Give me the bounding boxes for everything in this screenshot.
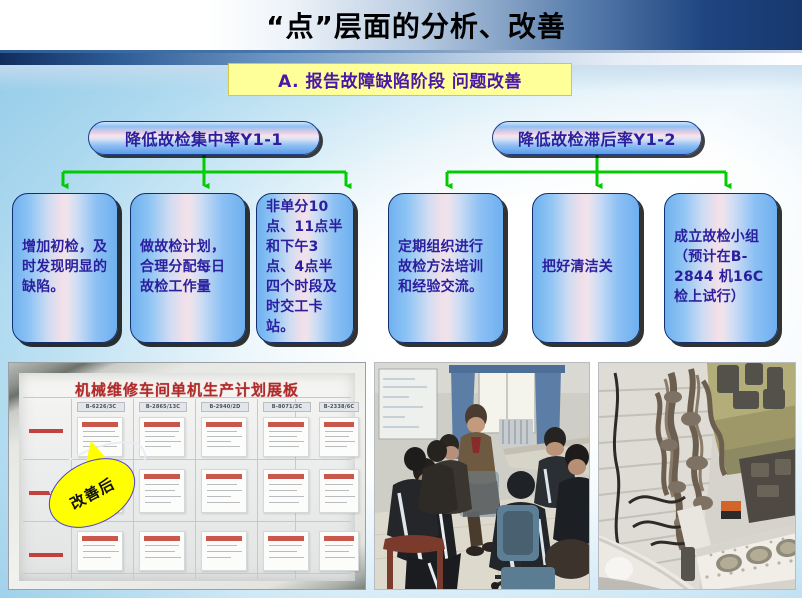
photo-aircraft-wheel-well xyxy=(598,362,796,590)
photo-training-meeting xyxy=(374,362,590,590)
board-column-header: B-2940/2D xyxy=(201,402,249,412)
slide-canvas: “点”层面的分析、改善 A. 报告故障缺陷阶段 问题改善 xyxy=(0,0,802,598)
node-y1-2-label: 降低故检滞后率Y1‐2 xyxy=(518,126,676,150)
node-leaf-5[interactable]: 把好清洁关 xyxy=(532,193,640,343)
node-leaf-6-label: 成立故检小组（预计在B‐2844 机16C检上试行） xyxy=(674,228,768,308)
board-column-header: B-2865/13C xyxy=(139,402,187,412)
board-column-header: B-8071/3C xyxy=(263,402,311,412)
board-column-header: B-6226/3C xyxy=(77,402,125,412)
node-y1-1[interactable]: 降低故检集中率Y1‐1 xyxy=(88,121,320,155)
callout-text: 改善后 xyxy=(66,472,118,513)
node-leaf-1[interactable]: 增加初检，及时发现明显的缺陷。 xyxy=(12,193,118,343)
meeting-scene xyxy=(375,363,590,590)
node-leaf-3-label: 非单分10点、11点半和下午3点、4点半四个时段及时交工卡站。 xyxy=(266,198,344,337)
node-leaf-2[interactable]: 做故检计划，合理分配每日故检工作量 xyxy=(130,193,246,343)
wheel-well-scene xyxy=(599,363,796,590)
node-y1-1-label: 降低故检集中率Y1‐1 xyxy=(125,126,283,150)
subtitle-banner: A. 报告故障缺陷阶段 问题改善 xyxy=(228,63,572,96)
node-leaf-6[interactable]: 成立故检小组（预计在B‐2844 机16C检上试行） xyxy=(664,193,778,343)
node-leaf-4[interactable]: 定期组织进行故检方法培训和经验交流。 xyxy=(388,193,504,343)
subtitle-text: A. 报告故障缺陷阶段 问题改善 xyxy=(278,67,522,92)
node-leaf-1-label: 增加初检，及时发现明显的缺陷。 xyxy=(22,238,108,298)
node-y1-2[interactable]: 降低故检滞后率Y1‐2 xyxy=(492,121,702,155)
node-leaf-2-label: 做故检计划，合理分配每日故检工作量 xyxy=(140,238,236,298)
node-leaf-3[interactable]: 非单分10点、11点半和下午3点、4点半四个时段及时交工卡站。 xyxy=(256,193,354,343)
board-column-header: B-2338/6C xyxy=(319,402,359,412)
page-title: “点”层面的分析、改善 xyxy=(0,0,802,50)
node-leaf-4-label: 定期组织进行故检方法培训和经验交流。 xyxy=(398,238,494,298)
node-leaf-5-label: 把好清洁关 xyxy=(542,258,630,278)
